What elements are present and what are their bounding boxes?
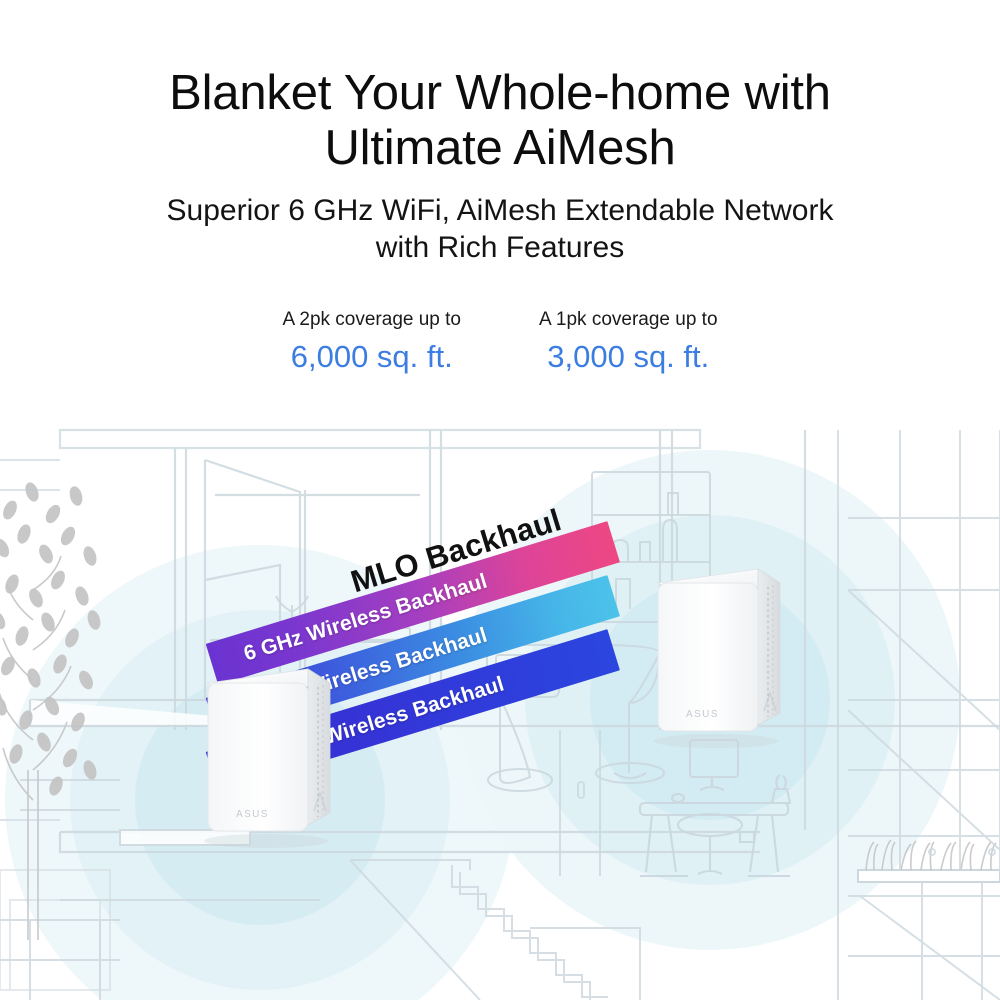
page-title: Blanket Your Whole-home with Ultimate Ai… xyxy=(0,0,1000,176)
hero-text: Blanket Your Whole-home with Ultimate Ai… xyxy=(0,0,1000,266)
page-subtitle: Superior 6 GHz WiFi, AiMesh Extendable N… xyxy=(0,176,1000,266)
subhead-line-2: with Rich Features xyxy=(376,231,624,264)
headline-line-2: Ultimate AiMesh xyxy=(324,121,675,175)
subhead-line-1: Superior 6 GHz WiFi, AiMesh Extendable N… xyxy=(167,194,834,227)
router-right-brand: ASUS xyxy=(686,709,719,720)
coverage-stats: A 2pk coverage up to 6,000 sq. ft. A 1pk… xyxy=(0,308,1000,378)
router-node-right: ASUS xyxy=(646,555,796,755)
headline-line-1: Blanket Your Whole-home with xyxy=(169,66,831,120)
marketing-banner: 6 GHz Wireless Backhaul 5 GHz Wireless B… xyxy=(0,0,1000,1000)
stat-2pk-value: 6,000 sq. ft. xyxy=(282,336,461,378)
router-node-left: ASUS xyxy=(196,655,346,855)
stat-2pk: A 2pk coverage up to 6,000 sq. ft. xyxy=(282,308,461,378)
router-left-brand: ASUS xyxy=(236,809,269,820)
house-illustration xyxy=(0,400,1000,1000)
stat-2pk-caption: A 2pk coverage up to xyxy=(282,308,461,333)
stat-1pk: A 1pk coverage up to 3,000 sq. ft. xyxy=(539,308,718,378)
tree-illustration xyxy=(0,470,140,940)
stat-1pk-value: 3,000 sq. ft. xyxy=(539,336,718,378)
stat-1pk-caption: A 1pk coverage up to xyxy=(539,308,718,333)
